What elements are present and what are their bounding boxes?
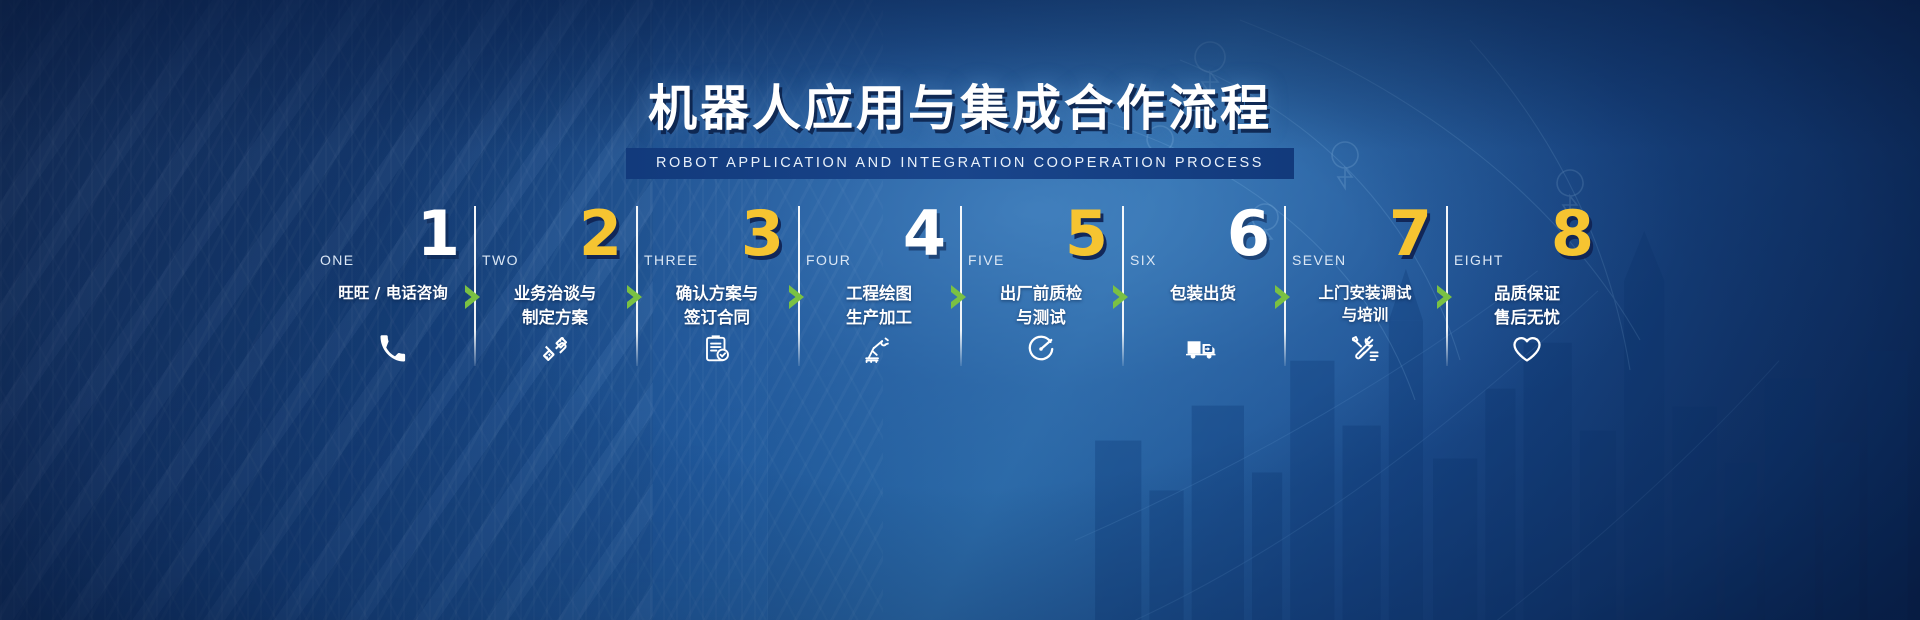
step-ordinal: EIGHT bbox=[1454, 252, 1504, 268]
step-number: 4 bbox=[903, 203, 946, 265]
step-number: 7 bbox=[1389, 203, 1432, 265]
clipboard-check-icon bbox=[636, 332, 798, 366]
step-label-line2: 售后无忧 bbox=[1446, 306, 1608, 330]
heart-icon bbox=[1446, 332, 1608, 366]
step-label: 品质保证售后无忧 bbox=[1446, 282, 1608, 330]
step-ordinal: SIX bbox=[1130, 252, 1157, 268]
pencil-ruler-icon bbox=[474, 332, 636, 366]
step-label-line1: 出厂前质检 bbox=[960, 282, 1122, 306]
step-label-line1: 包装出货 bbox=[1122, 282, 1284, 306]
step-number: 2 bbox=[579, 203, 622, 265]
step-label: 业务治谈与制定方案 bbox=[474, 282, 636, 330]
tools-icon bbox=[1284, 332, 1446, 366]
step-label: 确认方案与签订合同 bbox=[636, 282, 798, 330]
step-label: 包装出货 bbox=[1122, 282, 1284, 306]
step-number: 3 bbox=[741, 203, 784, 265]
step-label: 出厂前质检与测试 bbox=[960, 282, 1122, 330]
step-label-line1: 上门安装调试 bbox=[1284, 282, 1446, 304]
step-number: 1 bbox=[417, 203, 460, 265]
step-label-line2: 与测试 bbox=[960, 306, 1122, 330]
step-ordinal: SEVEN bbox=[1292, 252, 1346, 268]
step-ordinal: ONE bbox=[320, 252, 355, 268]
gauge-icon bbox=[960, 332, 1122, 366]
step-label-line2: 制定方案 bbox=[474, 306, 636, 330]
subtitle-bar: ROBOT APPLICATION AND INTEGRATION COOPER… bbox=[626, 148, 1294, 179]
step-ordinal: FIVE bbox=[968, 252, 1005, 268]
step-number: 6 bbox=[1227, 203, 1270, 265]
process-step-2: TWO2业务治谈与制定方案 bbox=[474, 206, 636, 386]
process-steps: ONE1旺旺 / 电话咨询TWO2业务治谈与制定方案THREE3确认方案与签订合… bbox=[0, 206, 1920, 386]
step-label: 旺旺 / 电话咨询 bbox=[312, 282, 474, 304]
step-ordinal: THREE bbox=[644, 252, 698, 268]
process-step-3: THREE3确认方案与签订合同 bbox=[636, 206, 798, 386]
step-label-line2: 与培训 bbox=[1284, 304, 1446, 326]
process-step-5: FIVE5出厂前质检与测试 bbox=[960, 206, 1122, 386]
subtitle-text: ROBOT APPLICATION AND INTEGRATION COOPER… bbox=[656, 155, 1264, 171]
step-label-line1: 业务治谈与 bbox=[474, 282, 636, 306]
banner-header: 机器人应用与集成合作流程 ROBOT APPLICATION AND INTEG… bbox=[0, 84, 1920, 179]
process-step-1: ONE1旺旺 / 电话咨询 bbox=[312, 206, 474, 386]
process-step-4: FOUR4工程绘图生产加工 bbox=[798, 206, 960, 386]
step-label-line1: 品质保证 bbox=[1446, 282, 1608, 306]
robot-arm-icon bbox=[798, 332, 960, 366]
step-label: 上门安装调试与培训 bbox=[1284, 282, 1446, 327]
process-banner: 机器人应用与集成合作流程 ROBOT APPLICATION AND INTEG… bbox=[0, 0, 1920, 620]
delivery-truck-icon bbox=[1122, 332, 1284, 366]
process-step-7: SEVEN7上门安装调试与培训 bbox=[1284, 206, 1446, 386]
step-number: 8 bbox=[1551, 203, 1594, 265]
step-label-line2: 签订合同 bbox=[636, 306, 798, 330]
step-ordinal: TWO bbox=[482, 252, 519, 268]
phone-icon bbox=[312, 332, 474, 366]
process-step-6: SIX6包装出货 bbox=[1122, 206, 1284, 386]
step-label: 工程绘图生产加工 bbox=[798, 282, 960, 330]
step-ordinal: FOUR bbox=[806, 252, 851, 268]
step-label-line2: 生产加工 bbox=[798, 306, 960, 330]
step-number: 5 bbox=[1065, 203, 1108, 265]
step-label-line1: 工程绘图 bbox=[798, 282, 960, 306]
page-title: 机器人应用与集成合作流程 bbox=[0, 84, 1920, 133]
step-label-line1: 确认方案与 bbox=[636, 282, 798, 306]
step-label-line1: 旺旺 / 电话咨询 bbox=[312, 282, 474, 304]
process-step-8: EIGHT8品质保证售后无忧 bbox=[1446, 206, 1608, 386]
